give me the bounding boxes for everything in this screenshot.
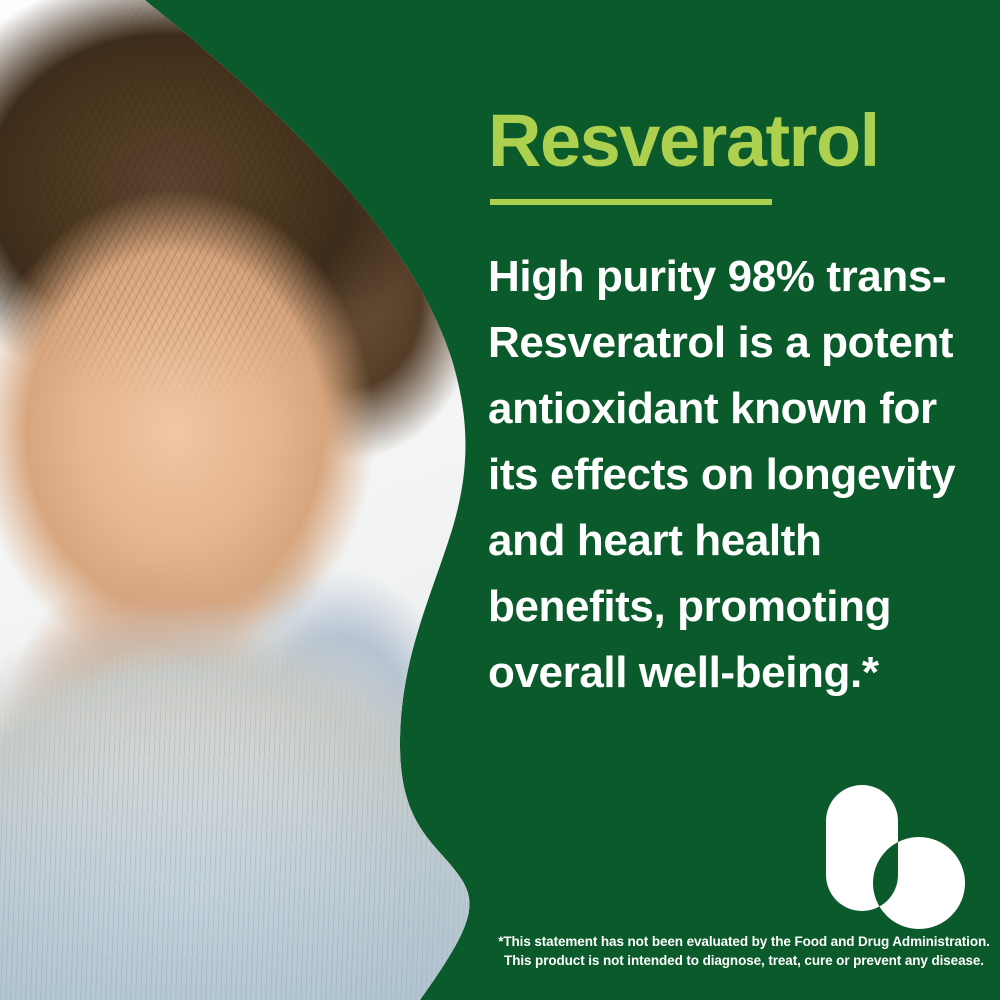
hero-photo <box>0 0 500 1000</box>
product-promo-card: Resveratrol High purity 98% trans- Resve… <box>0 0 1000 1000</box>
product-description: High purity 98% trans- Resveratrol is a … <box>488 244 980 706</box>
description-line: and heart health <box>488 516 821 565</box>
page-title: Resveratrol <box>488 104 988 178</box>
sweater-knit-texture-overlay <box>0 0 500 1000</box>
disclaimer-line: This product is not intended to diagnose… <box>488 951 1000 970</box>
fda-disclaimer: *This statement has not been evaluated b… <box>488 932 1000 970</box>
content-column: Resveratrol High purity 98% trans- Resve… <box>488 0 1000 1000</box>
description-line: its effects on longevity <box>488 450 955 499</box>
logo-pill-circle-shape <box>826 782 976 930</box>
description-line: benefits, promoting <box>488 582 891 631</box>
description-line: High purity 98% trans- <box>488 252 946 301</box>
description-line: antioxidant known for <box>488 384 937 433</box>
title-underline-rule <box>490 199 772 205</box>
disclaimer-line: *This statement has not been evaluated b… <box>488 932 1000 951</box>
description-line: overall well-being.* <box>488 648 879 697</box>
brand-logo <box>826 782 976 930</box>
description-line: Resveratrol is a potent <box>488 318 953 367</box>
